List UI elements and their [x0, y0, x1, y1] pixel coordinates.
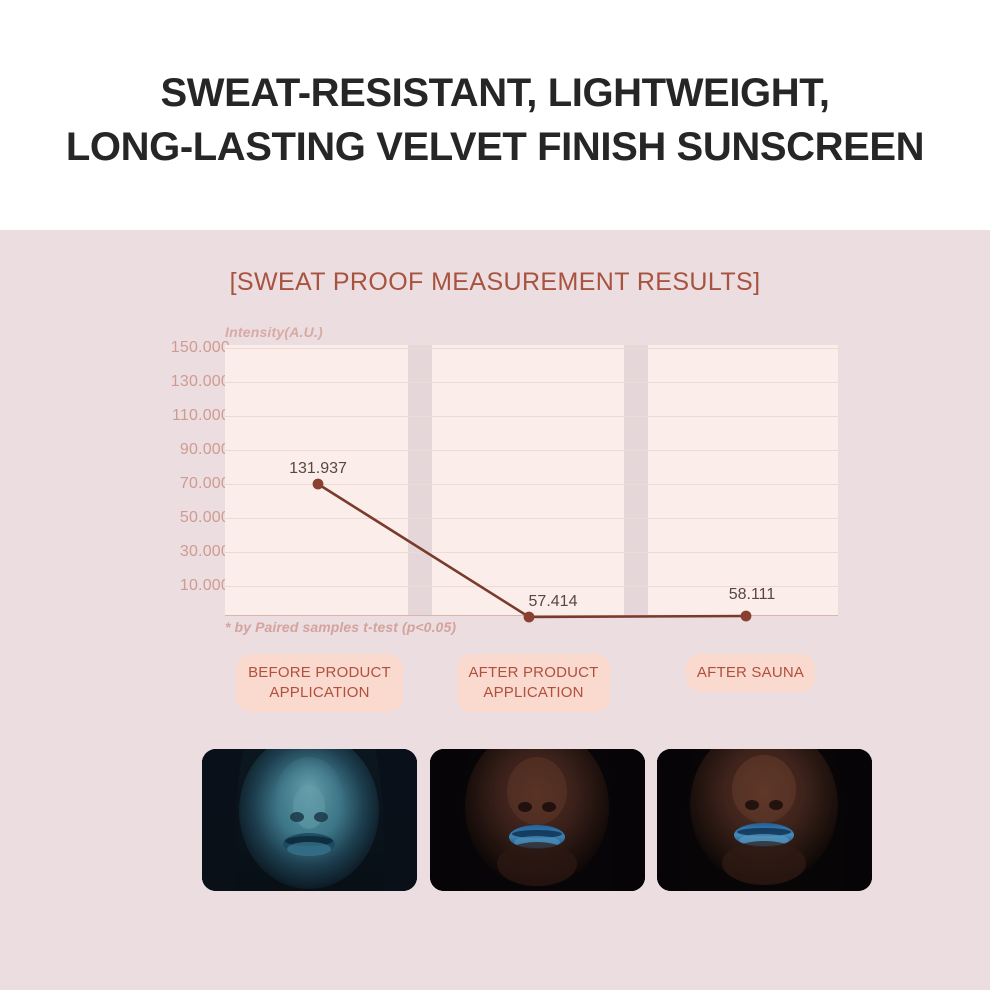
series-line-chart: [225, 345, 838, 615]
uv-photo-after-sauna[interactable]: [657, 749, 872, 891]
pill-line-1: BEFORE PRODUCT: [236, 663, 403, 683]
chart-footnote: * by Paired samples t-test (p<0.05): [225, 619, 456, 635]
uv-photo-after-product-application[interactable]: [430, 749, 645, 891]
pill-line-2: APPLICATION: [236, 683, 403, 703]
y-tick-label: 50.000: [110, 509, 230, 527]
pill-line-1: AFTER PRODUCT: [457, 663, 610, 683]
uv-face-image-blue: [202, 749, 417, 891]
y-tick-label: 70.000: [110, 475, 230, 493]
results-section: [SWEAT PROOF MEASUREMENT RESULTS] Intens…: [0, 230, 990, 990]
pill-line-1: AFTER SAUNA: [686, 663, 815, 683]
data-point-marker: [741, 611, 752, 622]
y-tick-label: 110.000: [110, 407, 230, 425]
data-label: 131.937: [289, 460, 347, 478]
category-pill-after-product-application[interactable]: AFTER PRODUCT APPLICATION: [457, 654, 610, 712]
y-tick-label: 150.000: [110, 339, 230, 357]
y-tick-label: 90.000: [110, 441, 230, 459]
data-point-marker: [313, 479, 324, 490]
y-tick-label: 10.000: [110, 577, 230, 595]
page-title: SWEAT-RESISTANT, LIGHTWEIGHT, LONG-LASTI…: [0, 66, 990, 174]
uv-photo-before-product-application[interactable]: [202, 749, 417, 891]
y-tick-label: 30.000: [110, 543, 230, 561]
data-label: 58.111: [729, 586, 776, 604]
category-pill-after-sauna[interactable]: AFTER SAUNA: [686, 654, 815, 692]
headline-line-2: LONG-LASTING VELVET FINISH SUNSCREEN: [0, 120, 990, 174]
pill-line-2: APPLICATION: [457, 683, 610, 703]
category-pill-before-product-application[interactable]: BEFORE PRODUCT APPLICATION: [236, 654, 403, 712]
headline-line-1: SWEAT-RESISTANT, LIGHTWEIGHT,: [160, 71, 829, 115]
promo-page: SWEAT-RESISTANT, LIGHTWEIGHT, LONG-LASTI…: [0, 0, 990, 990]
header-band: SWEAT-RESISTANT, LIGHTWEIGHT, LONG-LASTI…: [0, 0, 990, 230]
data-label: 57.414: [529, 593, 578, 611]
chart-area: 150.000 130.000 110.000 90.000 70.000 50…: [0, 230, 990, 990]
y-tick-label: 130.000: [110, 373, 230, 391]
data-point-marker: [524, 612, 535, 623]
uv-face-image-dark-1: [430, 749, 645, 891]
uv-face-image-dark-2: [657, 749, 872, 891]
